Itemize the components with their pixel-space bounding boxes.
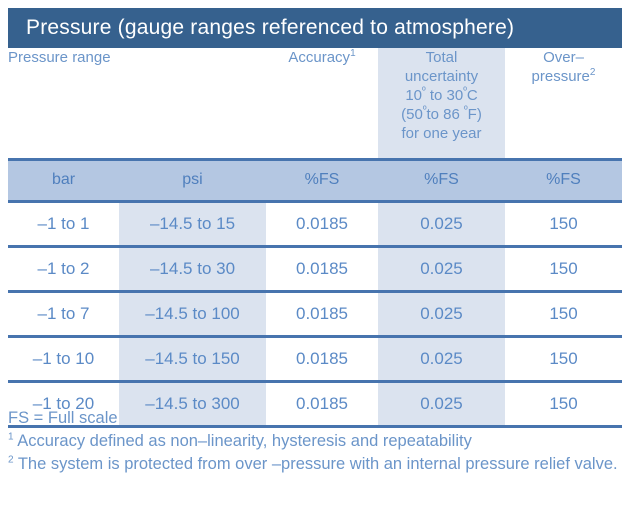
cell-bar: –1 to 7: [8, 291, 119, 336]
cell-psi: –14.5 to 150: [119, 336, 266, 381]
footnote-1: 1 Accuracy defined as non–linearity, hys…: [8, 430, 628, 453]
pressure-spec-table-page: Pressure (gauge ranges referenced to atm…: [0, 0, 635, 515]
header-total-line-3: 10º to 30ºC: [378, 86, 505, 105]
header-accuracy-label: Accuracy: [288, 49, 350, 66]
table-row: –1 to 2 –14.5 to 30 0.0185 0.025 150: [8, 246, 622, 291]
unit-bar: bar: [8, 159, 119, 201]
pressure-spec-table: Pressure range Accuracy1 Total uncertain…: [8, 48, 622, 428]
header-accuracy: Accuracy1: [266, 48, 378, 159]
cell-accuracy: 0.0185: [266, 201, 378, 246]
table-row: –1 to 20 –14.5 to 300 0.0185 0.025 150: [8, 381, 622, 426]
header-total-line-4: (50ºto 86 ºF): [378, 105, 505, 124]
cell-overpressure: 150: [505, 201, 622, 246]
header-total-line-2: uncertainty: [378, 67, 505, 86]
header-overpressure: Over– pressure2: [505, 48, 622, 159]
unit-overpressure: %FS: [505, 159, 622, 201]
header-overpressure-footnote-marker: 2: [590, 67, 596, 78]
page-title: Pressure (gauge ranges referenced to atm…: [26, 16, 514, 40]
cell-bar: –1 to 1: [8, 201, 119, 246]
cell-psi: –14.5 to 300: [119, 381, 266, 426]
header-accuracy-footnote-marker: 1: [350, 48, 356, 59]
footnote-2: 2 The system is protected from over –pre…: [8, 453, 628, 476]
header-pressure-range: Pressure range: [8, 48, 266, 159]
cell-overpressure: 150: [505, 291, 622, 336]
cell-accuracy: 0.0185: [266, 381, 378, 426]
cell-overpressure: 150: [505, 246, 622, 291]
header-overpressure-label: pressure: [532, 68, 590, 85]
cell-bar: –1 to 20: [8, 381, 119, 426]
header-total-line-1: Total: [378, 48, 505, 67]
cell-accuracy: 0.0185: [266, 246, 378, 291]
total-temp-f-unit: F): [468, 106, 482, 123]
cell-total-uncertainty: 0.025: [378, 336, 505, 381]
footnote-1-text: Accuracy defined as non–linearity, hyste…: [14, 432, 472, 450]
spec-table-container: Pressure range Accuracy1 Total uncertain…: [8, 48, 622, 428]
cell-psi: –14.5 to 30: [119, 246, 266, 291]
cell-overpressure: 150: [505, 336, 622, 381]
table-row: –1 to 1 –14.5 to 15 0.0185 0.025 150: [8, 201, 622, 246]
cell-psi: –14.5 to 15: [119, 201, 266, 246]
footnote-2-text: The system is protected from over –press…: [14, 455, 618, 473]
cell-overpressure: 150: [505, 381, 622, 426]
unit-psi: psi: [119, 159, 266, 201]
cell-bar: –1 to 10: [8, 336, 119, 381]
cell-bar: –1 to 2: [8, 246, 119, 291]
total-temp-f-low: (50: [401, 106, 423, 123]
header-total-uncertainty: Total uncertainty 10º to 30ºC (50ºto 86 …: [378, 48, 505, 159]
unit-total-uncertainty: %FS: [378, 159, 505, 201]
total-temp-c-unit: C: [467, 87, 478, 104]
total-temp-f-high: to 86: [426, 106, 464, 123]
cell-accuracy: 0.0185: [266, 336, 378, 381]
total-temp-c-low: 10: [405, 87, 422, 104]
cell-total-uncertainty: 0.025: [378, 291, 505, 336]
table-title-bar: Pressure (gauge ranges referenced to atm…: [8, 8, 622, 48]
table-row: –1 to 7 –14.5 to 100 0.0185 0.025 150: [8, 291, 622, 336]
total-temp-c-high: to 30: [426, 87, 464, 104]
cell-total-uncertainty: 0.025: [378, 381, 505, 426]
cell-accuracy: 0.0185: [266, 291, 378, 336]
table-group-header-row: Pressure range Accuracy1 Total uncertain…: [8, 48, 622, 159]
header-pressure-range-label: Pressure range: [8, 49, 111, 66]
cell-total-uncertainty: 0.025: [378, 246, 505, 291]
header-overpressure-line-1: Over–: [505, 48, 622, 67]
table-row: –1 to 10 –14.5 to 150 0.0185 0.025 150: [8, 336, 622, 381]
header-overpressure-line-2: pressure2: [505, 67, 622, 86]
table-units-row: bar psi %FS %FS %FS: [8, 159, 622, 201]
cell-total-uncertainty: 0.025: [378, 201, 505, 246]
unit-accuracy: %FS: [266, 159, 378, 201]
header-total-line-5: for one year: [378, 124, 505, 143]
cell-psi: –14.5 to 100: [119, 291, 266, 336]
